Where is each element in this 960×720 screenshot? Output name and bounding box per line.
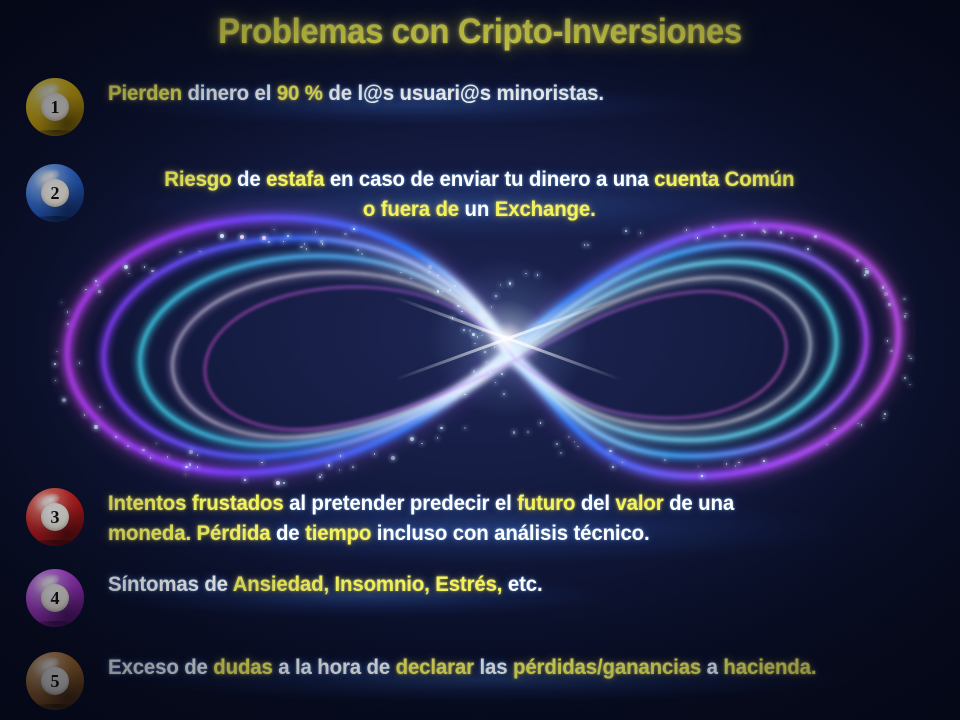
sparkle-particle xyxy=(261,462,263,464)
sparkle-particle xyxy=(452,317,454,319)
highlight-text: tiempo xyxy=(305,521,377,545)
sparkle-particle xyxy=(220,234,224,238)
sparkle-particles xyxy=(48,196,916,506)
text-line: Riesgo de estafa en caso de enviar tu di… xyxy=(104,164,855,194)
sparkle-particle xyxy=(268,241,270,243)
list-item: 2Riesgo de estafa en caso de enviar tu d… xyxy=(26,164,926,224)
highlight-text: dudas xyxy=(213,655,278,679)
ball-number-label: 4 xyxy=(51,589,60,607)
list-item: 4Síntomas de Ansiedad, Insomnio, Estrés,… xyxy=(26,569,926,627)
sparkle-particle xyxy=(686,229,688,231)
infinity-strand-1-core xyxy=(67,218,898,477)
sparkle-particle xyxy=(857,423,859,425)
body-text: un xyxy=(465,197,495,221)
sparkle-particle xyxy=(319,476,321,478)
sparkle-particle xyxy=(482,331,484,333)
center-flare xyxy=(423,253,593,423)
sparkle-particle xyxy=(826,444,828,446)
infinity-strand-halo xyxy=(67,218,898,477)
sparkle-particle xyxy=(726,463,728,465)
ball-number-label: 3 xyxy=(51,508,60,526)
sparkle-particle xyxy=(54,363,56,365)
sparkle-particle xyxy=(62,398,66,402)
ball-number-label: 5 xyxy=(51,672,60,690)
sparkle-particle xyxy=(276,481,280,485)
sparkle-particle xyxy=(513,431,516,434)
highlight-text: Ansiedad, Insomnio, Estrés, xyxy=(233,572,508,596)
text-line: Exceso de dudas a la hora de declarar la… xyxy=(108,652,816,682)
sparkle-particle xyxy=(495,382,497,384)
text-line: Síntomas de Ansiedad, Insomnio, Estrés, … xyxy=(108,569,543,599)
list-item-text: Exceso de dudas a la hora de declarar la… xyxy=(108,652,816,682)
ball-number-disc: 2 xyxy=(41,179,69,207)
infinity-strand-3 xyxy=(140,256,836,445)
sparkle-particle xyxy=(537,274,539,276)
sparkle-particle xyxy=(437,290,440,293)
highlight-text: estafa xyxy=(266,167,330,191)
sparkle-particle xyxy=(189,450,193,454)
sparkle-particle xyxy=(353,228,355,230)
sparkle-particle xyxy=(609,450,612,453)
body-text: del xyxy=(581,491,616,515)
sparkle-particle xyxy=(374,453,376,455)
body-text: Exceso de xyxy=(108,655,213,679)
sparkle-particle xyxy=(481,335,483,337)
sparkle-particle xyxy=(67,323,69,325)
sparkle-particle xyxy=(262,236,266,240)
highlight-text: o fuera de xyxy=(363,197,465,221)
sparkle-particle xyxy=(712,226,714,228)
billiard-ball-3: 3 xyxy=(26,488,84,546)
infinity-strand-2 xyxy=(104,238,866,457)
sparkle-particle xyxy=(421,443,423,445)
sparkle-particle xyxy=(763,460,766,463)
sparkle-particle xyxy=(185,466,188,469)
text-line: Pierden dinero el 90 % de l@s usuari@s m… xyxy=(108,78,604,108)
sparkle-particle xyxy=(361,253,363,255)
sparkle-particle xyxy=(185,474,187,476)
sparkle-particle xyxy=(625,230,627,232)
body-text: dinero el xyxy=(187,81,276,105)
ball-number-disc: 4 xyxy=(41,584,69,612)
sparkle-particle xyxy=(587,244,589,246)
sparkle-particle xyxy=(197,454,199,456)
sparkle-particle xyxy=(486,361,488,363)
sparkle-particle xyxy=(61,302,63,304)
sparkle-particle xyxy=(56,351,58,353)
body-text: etc. xyxy=(508,572,543,596)
highlight-text: Intentos frustados xyxy=(108,491,289,515)
sparkle-particle xyxy=(151,270,154,273)
infinity-strand-4 xyxy=(172,272,810,437)
highlight-text: valor xyxy=(615,491,669,515)
sparkle-particle xyxy=(500,284,502,286)
sparkle-particle xyxy=(762,229,765,232)
sparkle-particle xyxy=(882,286,885,289)
sparkle-particle xyxy=(904,377,906,379)
sparkle-particle xyxy=(495,295,497,297)
sparkle-particle xyxy=(94,425,98,429)
sparkle-particle xyxy=(144,266,146,268)
sparkle-particle xyxy=(128,273,130,275)
sparkle-particle xyxy=(322,243,324,245)
sparkle-particle xyxy=(814,235,817,238)
highlight-text: Exchange. xyxy=(495,197,596,221)
sparkle-particle xyxy=(472,333,475,336)
sparkle-particle xyxy=(525,273,527,275)
highlight-text: Pierden xyxy=(108,81,187,105)
sparkle-particle xyxy=(429,271,431,273)
sparkle-particle xyxy=(320,240,323,243)
body-text: de xyxy=(276,521,305,545)
highlight-text: moneda. Pérdida xyxy=(108,521,276,545)
ball-number-disc: 1 xyxy=(41,93,69,121)
sparkle-particle xyxy=(864,274,866,276)
sparkle-particle xyxy=(79,362,81,364)
sparkle-particle xyxy=(84,414,86,416)
text-line: o fuera de un Exchange. xyxy=(104,194,855,224)
list-item-text: Síntomas de Ansiedad, Insomnio, Estrés, … xyxy=(108,569,543,599)
infinity-strand-3-core xyxy=(140,256,836,445)
sparkle-particle xyxy=(780,231,783,234)
highlight-text: pérdidas/ganancias xyxy=(513,655,707,679)
sparkle-particle xyxy=(357,249,359,251)
list-item: 5Exceso de dudas a la hora de declarar l… xyxy=(26,652,926,710)
highlight-text: cuenta Común xyxy=(654,167,794,191)
body-text: las xyxy=(479,655,513,679)
sparkle-particle xyxy=(664,459,666,461)
sparkle-particle xyxy=(463,329,465,331)
sparkle-particle xyxy=(910,358,912,360)
sparkle-particle xyxy=(95,280,97,282)
sparkle-particle xyxy=(179,251,182,254)
highlight-text: declarar xyxy=(396,655,480,679)
sparkle-particle xyxy=(908,355,910,357)
sparkle-particle xyxy=(300,246,303,249)
sparkle-particle xyxy=(410,437,414,441)
sparkle-particle xyxy=(321,474,323,476)
ball-number-label: 1 xyxy=(51,98,60,116)
sparkle-particle xyxy=(244,479,246,481)
sparkle-particle xyxy=(464,394,466,396)
infinity-strand-2-core xyxy=(104,238,866,457)
infinity-strand-4-core xyxy=(172,272,810,437)
sparkle-particle xyxy=(474,343,476,345)
sparkle-particle xyxy=(400,272,402,274)
sparkle-particle xyxy=(240,235,244,239)
sparkle-particle xyxy=(475,374,477,376)
ball-number-label: 2 xyxy=(51,184,60,202)
sparkle-particle xyxy=(127,445,129,447)
highlight-text: Riesgo xyxy=(164,167,237,191)
sparkle-particle xyxy=(527,431,529,433)
sparkle-particle xyxy=(888,303,891,306)
sparkle-particle xyxy=(540,422,542,424)
sparkle-particle xyxy=(99,406,101,408)
ball-number-disc: 3 xyxy=(41,503,69,531)
sparkle-particle xyxy=(735,465,737,467)
sparkle-particle xyxy=(469,329,472,332)
sparkle-particle xyxy=(486,319,488,321)
body-text: de una xyxy=(669,491,734,515)
highlight-text: hacienda. xyxy=(723,655,816,679)
body-text: en caso de enviar tu dinero a una xyxy=(330,167,654,191)
sparkle-particle xyxy=(197,466,199,468)
body-text: Síntomas de xyxy=(108,572,233,596)
sparkle-particle xyxy=(464,427,466,429)
list-item-text: Pierden dinero el 90 % de l@s usuari@s m… xyxy=(108,78,604,108)
sparkle-particle xyxy=(724,235,726,237)
sparkle-particle xyxy=(189,463,192,466)
sparkle-particle xyxy=(494,346,496,348)
body-text: a la hora de xyxy=(278,655,395,679)
text-line: moneda. Pérdida de tiempo incluso con an… xyxy=(108,518,859,548)
sparkle-particle xyxy=(791,237,793,239)
sparkle-particle xyxy=(568,436,571,439)
body-text: de l@s usuari@s minoristas. xyxy=(328,81,604,105)
sparkle-particle xyxy=(339,469,341,471)
sparkle-particle xyxy=(67,311,69,313)
highlight-text: futuro xyxy=(517,491,581,515)
sparkle-particle xyxy=(352,466,354,468)
sparkle-particle xyxy=(640,232,642,234)
sparkle-particle xyxy=(454,285,456,287)
sparkle-particle xyxy=(574,441,576,443)
sparkle-particle xyxy=(410,278,412,280)
sparkle-particle xyxy=(612,466,614,468)
infinity-strand-5 xyxy=(205,287,786,430)
sparkle-particle xyxy=(865,270,869,274)
sparkle-particle xyxy=(452,395,454,397)
sparkle-particle xyxy=(428,265,432,269)
sparkle-particle xyxy=(344,233,347,236)
list-item-text: Intentos frustados al pretender predecir… xyxy=(108,488,859,548)
sparkle-particle xyxy=(890,350,893,353)
sparkle-particle xyxy=(283,482,285,484)
sparkle-particle xyxy=(304,243,306,245)
sparkle-particle xyxy=(473,308,476,311)
sparkle-particle xyxy=(697,237,699,239)
sparkle-particle xyxy=(905,313,907,315)
sparkle-particle xyxy=(340,455,342,457)
text-line: Intentos frustados al pretender predecir… xyxy=(108,488,859,518)
sparkle-particle xyxy=(437,275,439,277)
sparkle-particle xyxy=(501,373,503,375)
sparkle-particle xyxy=(457,305,460,308)
list-item: 1Pierden dinero el 90 % de l@s usuari@s … xyxy=(26,78,926,136)
sparkle-particle xyxy=(560,452,562,454)
sparkle-particle xyxy=(834,428,836,430)
page-title: Problemas con Cripto-Inversiones xyxy=(29,12,931,52)
sparkle-particle xyxy=(477,306,479,308)
sparkle-particle xyxy=(903,298,906,301)
sparkle-particle xyxy=(764,231,766,233)
sparkle-particle xyxy=(887,340,889,342)
billiard-ball-2: 2 xyxy=(26,164,84,222)
sparkle-particle xyxy=(315,231,317,233)
sparkle-particle xyxy=(98,290,101,293)
sparkle-particle xyxy=(97,285,99,287)
sparkle-particle xyxy=(466,388,468,390)
slide-canvas: Problemas con Cripto-Inversiones 1Pierde… xyxy=(0,0,960,720)
sparkle-particle xyxy=(287,235,289,237)
sparkle-particle xyxy=(442,291,444,293)
infinity-strand-1 xyxy=(67,218,898,477)
sparkle-particle xyxy=(861,424,863,426)
sparkle-particle xyxy=(273,229,275,231)
sparkle-particle xyxy=(440,427,443,430)
sparkle-particle xyxy=(909,384,911,386)
sparkle-particle xyxy=(150,457,152,459)
sparkle-particle xyxy=(741,234,743,236)
sparkle-particle xyxy=(471,382,474,385)
sparkle-particle xyxy=(503,393,505,395)
infinity-symbol-graphic xyxy=(48,196,916,506)
highlight-text: 90 % xyxy=(277,81,329,105)
sparkle-particle xyxy=(491,306,493,308)
sparkle-particle xyxy=(622,462,624,464)
sparkle-particle xyxy=(156,443,158,445)
list-item-text: Riesgo de estafa en caso de enviar tu di… xyxy=(104,164,855,224)
sparkle-particle xyxy=(701,475,703,477)
list-item: 3Intentos frustados al pretender predeci… xyxy=(26,488,926,548)
sparkle-particle xyxy=(509,282,512,285)
sparkle-particle xyxy=(199,251,201,253)
body-text: incluso con análisis técnico. xyxy=(377,521,650,545)
sparkle-particle xyxy=(55,380,57,382)
sparkle-particle xyxy=(883,418,885,420)
sparkle-particle xyxy=(473,370,476,373)
sparkle-particle xyxy=(461,311,463,313)
body-text: de xyxy=(237,167,266,191)
sparkle-particle xyxy=(477,336,479,338)
sparkle-particle xyxy=(856,259,859,262)
body-text: a xyxy=(707,655,724,679)
sparkle-particle xyxy=(884,292,888,296)
billiard-ball-4: 4 xyxy=(26,569,84,627)
sparkle-particle xyxy=(115,436,117,438)
sparkle-particle xyxy=(85,289,87,291)
sparkle-particle xyxy=(738,462,740,464)
sparkle-particle xyxy=(124,265,128,269)
sparkle-particle xyxy=(167,456,169,458)
body-text: al pretender predecir el xyxy=(289,491,517,515)
sparkle-particle xyxy=(556,443,558,445)
sparkle-particle xyxy=(328,464,331,467)
sparkle-particle xyxy=(437,437,439,439)
sparkle-particle xyxy=(904,315,907,318)
sparkle-particle xyxy=(391,456,395,460)
ball-number-disc: 5 xyxy=(41,667,69,695)
sparkle-particle xyxy=(142,449,145,452)
sparkle-particle xyxy=(884,413,886,415)
sparkle-particle xyxy=(807,248,809,250)
billiard-ball-5: 5 xyxy=(26,652,84,710)
billiard-ball-1: 1 xyxy=(26,78,84,136)
sparkle-particle xyxy=(698,466,700,468)
sparkle-particle xyxy=(283,241,285,243)
sparkle-particle xyxy=(306,248,308,250)
sparkle-particle xyxy=(449,289,451,291)
sparkle-particle xyxy=(577,446,579,448)
sparkle-particle xyxy=(484,351,486,353)
sparkle-particle xyxy=(865,268,867,270)
sparkle-particle xyxy=(489,371,491,373)
sparkle-particle xyxy=(584,244,586,246)
